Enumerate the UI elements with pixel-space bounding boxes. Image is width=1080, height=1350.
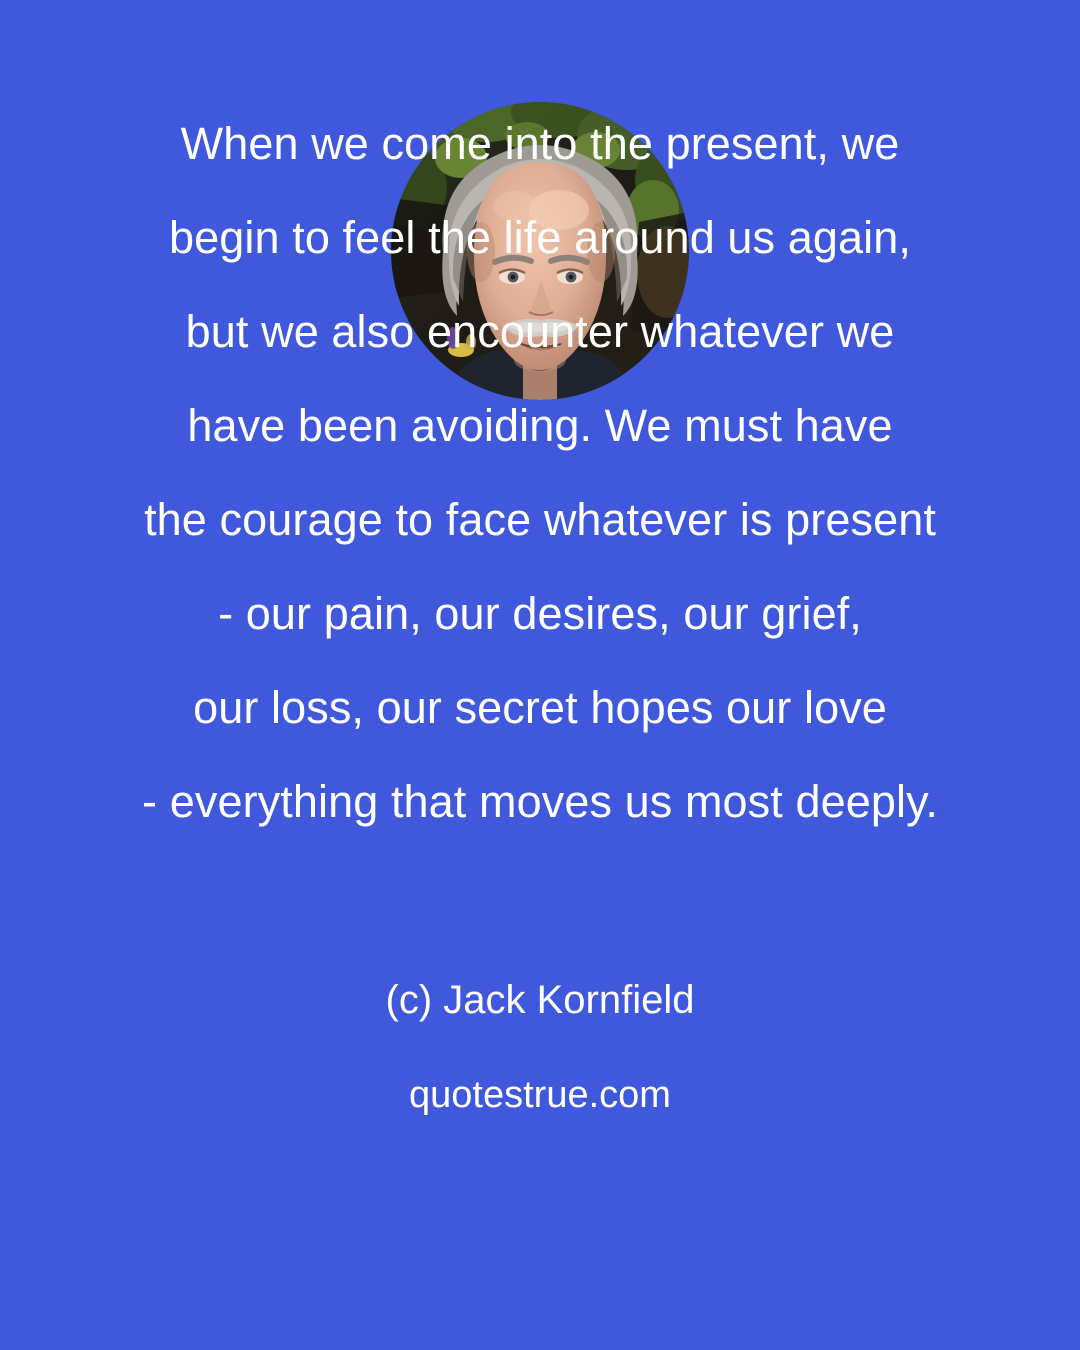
quote-attribution: (c) Jack Kornfield: [0, 972, 1080, 1028]
quote-body: When we come into the present, we begin …: [0, 97, 1080, 849]
quote-line: - everything that moves us most deeply.: [0, 755, 1080, 849]
quote-line: the courage to face whatever is present: [0, 473, 1080, 567]
quote-line: begin to feel the life around us again,: [0, 191, 1080, 285]
quote-line: have been avoiding. We must have: [0, 379, 1080, 473]
quote-line: but we also encounter whatever we: [0, 285, 1080, 379]
quote-line: When we come into the present, we: [0, 97, 1080, 191]
source-website: quotestrue.com: [0, 1068, 1080, 1122]
quote-line: our loss, our secret hopes our love: [0, 661, 1080, 755]
quote-card: When we come into the present, we begin …: [0, 0, 1080, 1350]
quote-line: - our pain, our desires, our grief,: [0, 567, 1080, 661]
